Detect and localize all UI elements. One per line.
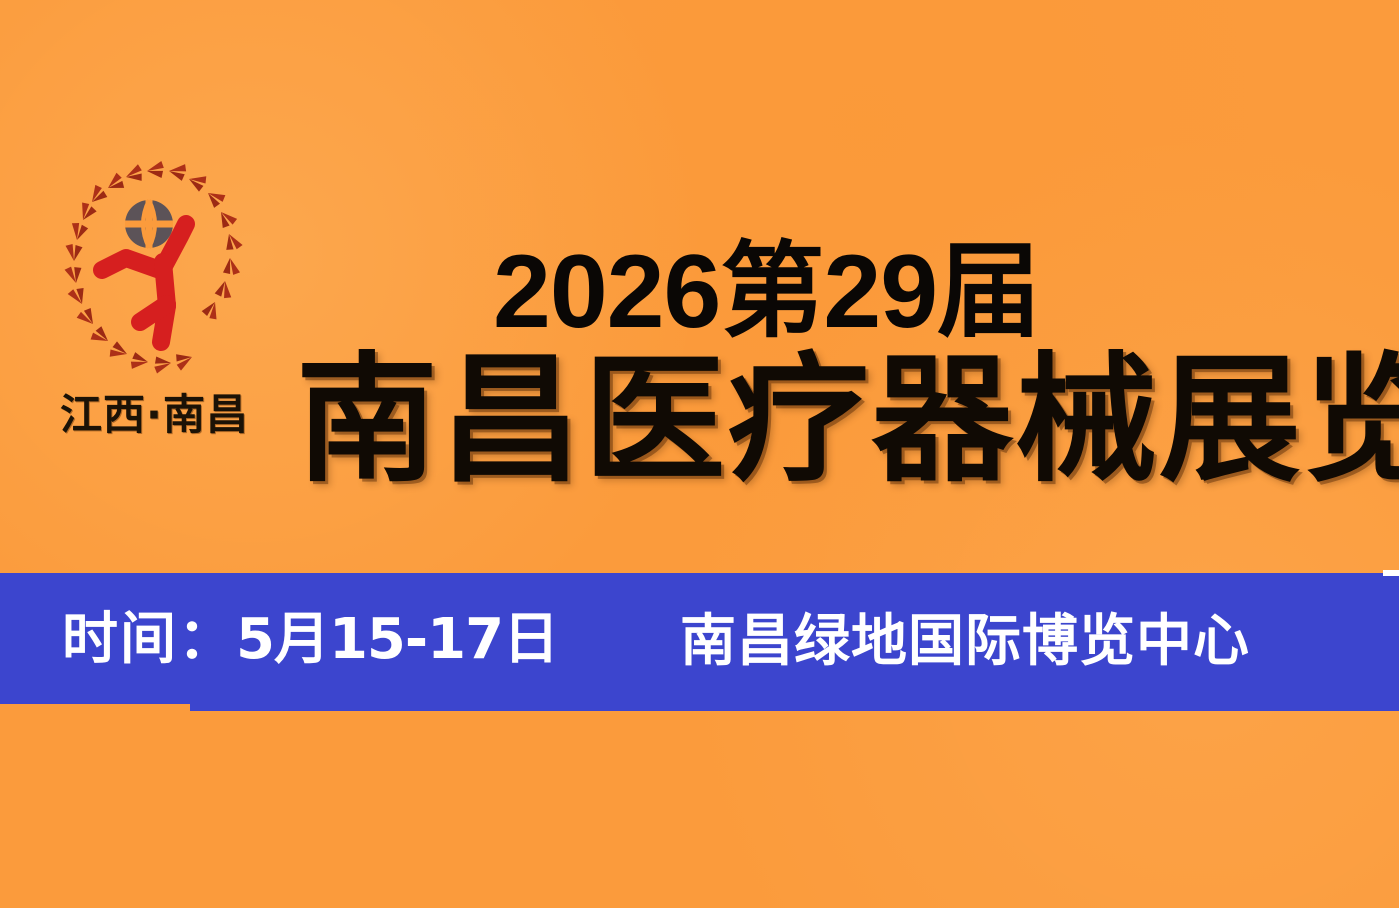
event-date-label: 时间： [62, 607, 236, 672]
edition-title: 2026第29届 [493, 236, 1040, 348]
page-title: 南昌医疗器械展览会 [296, 350, 1377, 492]
info-band-bottom-step [0, 704, 190, 712]
logo-caption: 江西·南昌 [60, 394, 290, 436]
info-band-corner-nick [1383, 570, 1399, 576]
event-logo: 江西·南昌 [46, 166, 294, 456]
event-date: 时间：5月15-17日 [62, 612, 558, 668]
event-date-value: 5月15-17日 [236, 607, 558, 672]
exhibition-poster: 江西·南昌 2026第29届 南昌医疗器械展览会 时间：5月15-17日 南昌绿… [0, 0, 1399, 908]
event-venue: 南昌绿地国际博览中心 [680, 614, 1250, 670]
logo-emblem-icon [68, 166, 254, 388]
laurel-wreath-runner-icon [68, 166, 254, 388]
globe-head-icon [125, 200, 173, 248]
